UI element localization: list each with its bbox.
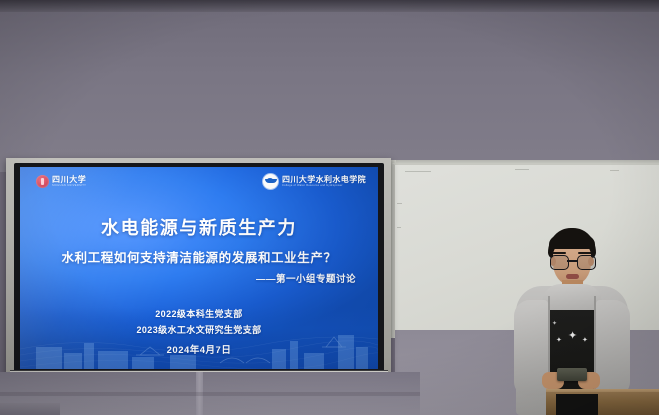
slide-subtitle: 水利工程如何支持清洁能源的发展和工业生产？ bbox=[20, 247, 378, 266]
slide-attribution: ——第一小组专题讨论 bbox=[256, 271, 356, 285]
upper-wall bbox=[0, 12, 659, 172]
slide-org-line-1: 2022级本科生党支部 bbox=[20, 307, 378, 320]
sichuan-university-logo: 四川大学 SICHUAN UNIVERSITY bbox=[36, 175, 86, 188]
classroom-photo-scene: 四川大学 SICHUAN UNIVERSITY 四川大学水利水电学院 Colle… bbox=[0, 0, 659, 415]
lectern-recess bbox=[556, 394, 598, 415]
whiteboard-mark bbox=[405, 171, 431, 172]
logo-left-name: 四川大学 bbox=[52, 175, 86, 184]
logo-right-name: 四川大学水利水电学院 bbox=[282, 175, 366, 184]
panel-screen[interactable]: 四川大学 SICHUAN UNIVERSITY 四川大学水利水电学院 Colle… bbox=[20, 167, 378, 369]
foreground-desk-edge bbox=[0, 403, 60, 415]
mouth bbox=[566, 274, 579, 279]
student-presenter: ✦ ✦ ✦ ✦ bbox=[512, 228, 632, 415]
shirt-star-icon: ✦ bbox=[552, 320, 557, 329]
college-logo: 四川大学水利水电学院 College of Water Resource and… bbox=[263, 174, 366, 189]
slide-title: 水电能源与新质生产力 bbox=[20, 214, 378, 240]
whiteboard-mark bbox=[397, 227, 401, 228]
water-wave-icon bbox=[263, 174, 278, 189]
slide-date: 2024年4月7日 bbox=[20, 342, 378, 356]
wall-shadow-band bbox=[0, 392, 420, 396]
shirt-star-icon: ✦ bbox=[556, 336, 562, 345]
sleeve-right bbox=[596, 300, 630, 396]
smartphone[interactable] bbox=[557, 368, 587, 381]
glasses-lens-left bbox=[550, 255, 569, 270]
eyebrow-right bbox=[578, 252, 592, 254]
hood bbox=[542, 284, 602, 310]
shirt-star-icon: ✦ bbox=[582, 336, 588, 345]
glasses-lens-right bbox=[577, 255, 596, 270]
presentation-slide: 四川大学 SICHUAN UNIVERSITY 四川大学水利水电学院 Colle… bbox=[20, 167, 378, 369]
whiteboard-mark bbox=[515, 169, 529, 170]
glasses-icon bbox=[550, 255, 594, 268]
hair-fringe bbox=[549, 233, 595, 249]
slide-org-line-2: 2023级水工水文研究生党支部 bbox=[20, 323, 378, 336]
whiteboard-mark bbox=[397, 203, 402, 204]
glasses-bridge bbox=[567, 260, 577, 262]
university-seal-icon bbox=[36, 175, 49, 188]
shirt-star-icon: ✦ bbox=[568, 332, 577, 341]
whiteboard-mark bbox=[610, 170, 619, 171]
eyebrow-left bbox=[552, 252, 566, 254]
logo-right-subtitle: College of Water Resource and Hydropower bbox=[282, 184, 366, 188]
logo-left-subtitle: SICHUAN UNIVERSITY bbox=[52, 184, 86, 188]
slide-skyline-graphic bbox=[20, 313, 378, 369]
